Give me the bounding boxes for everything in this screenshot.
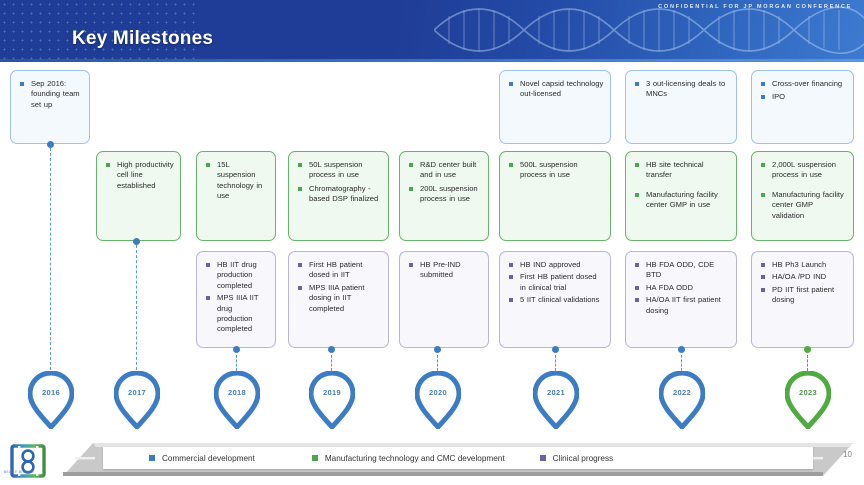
- card-manufacturing-2019[interactable]: 50L suspension process in use Chromatogr…: [288, 151, 389, 241]
- connector-2021: [555, 355, 557, 371]
- card-clinical-2021[interactable]: HB IND approved First HB patient dosed i…: [499, 251, 611, 348]
- timeline-pin-2018[interactable]: 2018: [214, 371, 260, 429]
- card-manufacturing-2023[interactable]: 2,000L suspension process in use Manufac…: [751, 151, 854, 241]
- bullet-item: Novel capsid technology out-licensed: [507, 79, 604, 100]
- map-pin-icon: [28, 371, 74, 429]
- bullet-item: HB Pre-IND submitted: [407, 260, 482, 281]
- pin-label: 2017: [114, 388, 160, 397]
- connector-dot-2019: [328, 346, 335, 353]
- slide-canvas: CONFIDENTIAL FOR JP MORGAN CONFERENCE Ke…: [0, 0, 864, 485]
- map-pin-icon: [415, 371, 461, 429]
- pin-label: 2021: [533, 388, 579, 397]
- connector-dot-2021: [552, 346, 559, 353]
- bullet-item: Sep 2016: founding team set up: [18, 79, 83, 110]
- bullet-item: IPO: [759, 92, 847, 102]
- bullet-item: MPS IIIA IIT drug production completed: [204, 293, 269, 335]
- page-number: 10: [843, 450, 852, 459]
- card-clinical-2018[interactable]: HB IIT drug production completed MPS III…: [196, 251, 276, 348]
- bullet-list: 2,000L suspension process in use Manufac…: [759, 160, 847, 221]
- legend-label: Manufacturing technology and CMC develop…: [325, 454, 505, 463]
- connector-2023: [807, 355, 809, 371]
- bullet-list: HB Ph3 Launch HA/OA /PD IND PD IIT first…: [759, 260, 847, 306]
- legend-label: Commercial development: [162, 454, 255, 463]
- bullet-item: Manufacturing facility center GMP valida…: [759, 190, 847, 221]
- card-manufacturing-2018[interactable]: 15L suspension technology in use: [196, 151, 276, 241]
- slide-header: CONFIDENTIAL FOR JP MORGAN CONFERENCE Ke…: [0, 0, 864, 59]
- connector-2018: [236, 355, 238, 371]
- map-pin-icon: [785, 371, 831, 429]
- bullet-list: 50L suspension process in use Chromatogr…: [296, 160, 382, 205]
- pin-label: 2016: [28, 388, 74, 397]
- bullet-item: HB FDA ODD, CDE BTD: [633, 260, 730, 281]
- card-commercial-2023[interactable]: Cross-over financing IPO: [751, 70, 854, 144]
- timeline-pin-2022[interactable]: 2022: [659, 371, 705, 429]
- bullet-item: First HB patient dosed in IIT: [296, 260, 382, 281]
- map-pin-icon: [114, 371, 160, 429]
- connector-2020: [437, 355, 439, 371]
- bullet-item: Cross-over financing: [759, 79, 847, 89]
- legend-swatch-icon: [312, 455, 318, 461]
- connector-2022: [681, 355, 683, 371]
- bullet-item: HA/OA IIT first patient dosing: [633, 295, 730, 316]
- bullet-list: HB IND approved First HB patient dosed i…: [507, 260, 604, 306]
- card-clinical-2023[interactable]: HB Ph3 Launch HA/OA /PD IND PD IIT first…: [751, 251, 854, 348]
- map-pin-icon: [659, 371, 705, 429]
- card-manufacturing-2021[interactable]: 500L suspension process in use: [499, 151, 611, 241]
- card-commercial-2021[interactable]: Novel capsid technology out-licensed: [499, 70, 611, 144]
- bullet-item: 2,000L suspension process in use: [759, 160, 847, 181]
- connector-2017: [136, 245, 138, 370]
- pin-label: 2018: [214, 388, 260, 397]
- card-manufacturing-2017[interactable]: High productivity cell line established: [96, 151, 181, 241]
- connector-dot-2022: [678, 346, 685, 353]
- belief-biomed-logo-icon: [10, 443, 48, 483]
- bullet-item: 3 out-licensing deals to MNCs: [633, 79, 730, 100]
- connector-2019: [331, 355, 333, 371]
- pin-label: 2023: [785, 388, 831, 397]
- timeline-pin-2017[interactable]: 2017: [114, 371, 160, 429]
- map-pin-icon: [533, 371, 579, 429]
- bullet-item: PD IIT first patient dosing: [759, 285, 847, 306]
- pin-label: 2019: [309, 388, 355, 397]
- header-underline: [0, 59, 864, 62]
- bullet-list: Novel capsid technology out-licensed: [507, 79, 604, 100]
- card-manufacturing-2022[interactable]: HB site technical transfer Manufacturing…: [625, 151, 737, 241]
- bullet-list: HB Pre-IND submitted: [407, 260, 482, 281]
- bullet-list: R&D center built and in use 200L suspens…: [407, 160, 482, 205]
- bullet-item: HB IIT drug production completed: [204, 260, 269, 291]
- card-clinical-2019[interactable]: First HB patient dosed in IIT MPS IIIA p…: [288, 251, 389, 348]
- bullet-list: 3 out-licensing deals to MNCs: [633, 79, 730, 100]
- bullet-item: HB IND approved: [507, 260, 604, 270]
- legend-swatch-icon: [149, 455, 155, 461]
- connector-dot-2018: [233, 346, 240, 353]
- bullet-item: MPS IIIA patient dosing in IIT completed: [296, 283, 382, 314]
- bullet-item: High productivity cell line established: [104, 160, 174, 191]
- bullet-item: HA FDA ODD: [633, 283, 730, 293]
- bullet-list: High productivity cell line established: [104, 160, 174, 191]
- timeline-pin-2020[interactable]: 2020: [415, 371, 461, 429]
- pin-label: 2020: [415, 388, 461, 397]
- bullet-item: 50L suspension process in use: [296, 160, 382, 181]
- bullet-item: Chromatography -based DSP finalized: [296, 184, 382, 205]
- bullet-list: HB site technical transfer Manufacturing…: [633, 160, 730, 211]
- bullet-list: 500L suspension process in use: [507, 160, 604, 181]
- confidential-notice: CONFIDENTIAL FOR JP MORGAN CONFERENCE: [658, 4, 852, 10]
- map-pin-icon: [309, 371, 355, 429]
- bullet-list: 15L suspension technology in use: [204, 160, 269, 202]
- connector-2016: [50, 148, 52, 370]
- legend-panel: Commercial development Manufacturing tec…: [103, 447, 813, 469]
- page-title: Key Milestones: [72, 28, 213, 50]
- bullet-item: 200L suspension process in use: [407, 184, 482, 205]
- bullet-item: HA/OA /PD IND: [759, 272, 847, 282]
- bullet-list: First HB patient dosed in IIT MPS IIIA p…: [296, 260, 382, 314]
- pin-label: 2022: [659, 388, 705, 397]
- connector-dot-2020: [434, 346, 441, 353]
- timeline-pin-2021[interactable]: 2021: [533, 371, 579, 429]
- bullet-list: HB IIT drug production completed MPS III…: [204, 260, 269, 335]
- legend-label: Clinical progress: [553, 454, 614, 463]
- bullet-item: HB site technical transfer: [633, 160, 730, 181]
- connector-dot-2023: [804, 346, 811, 353]
- bullet-item: HB Ph3 Launch: [759, 260, 847, 270]
- bullet-item: First HB patient dosed in clinical trial: [507, 272, 604, 293]
- card-commercial-2016[interactable]: Sep 2016: founding team set up: [10, 70, 90, 144]
- bullet-item: R&D center built and in use: [407, 160, 482, 181]
- legend-swatch-icon: [540, 455, 546, 461]
- card-clinical-2020[interactable]: HB Pre-IND submitted: [399, 251, 489, 348]
- bullet-item: 15L suspension technology in use: [204, 160, 269, 202]
- timeline-pin-2023[interactable]: 2023: [785, 371, 831, 429]
- bullet-list: HB FDA ODD, CDE BTD HA FDA ODD HA/OA IIT…: [633, 260, 730, 316]
- bullet-item: Manufacturing facility center GMP in use: [633, 190, 730, 211]
- legend-ribbon: Commercial development Manufacturing tec…: [63, 443, 853, 476]
- card-manufacturing-2020[interactable]: R&D center built and in use 200L suspens…: [399, 151, 489, 241]
- legend-item-commercial[interactable]: Commercial development: [149, 454, 255, 463]
- logo-caption: BELIEF BIOMED: [4, 470, 34, 474]
- bullet-list: Cross-over financing IPO: [759, 79, 847, 103]
- legend-item-clinical[interactable]: Clinical progress: [540, 454, 614, 463]
- bullet-item: 5 IIT clinical validations: [507, 295, 604, 305]
- bullet-item: 500L suspension process in use: [507, 160, 604, 181]
- connector-dot-2017: [133, 238, 140, 245]
- legend-item-manufacturing[interactable]: Manufacturing technology and CMC develop…: [312, 454, 505, 463]
- card-commercial-2022[interactable]: 3 out-licensing deals to MNCs: [625, 70, 737, 144]
- timeline-pin-2016[interactable]: 2016: [28, 371, 74, 429]
- timeline-pin-2019[interactable]: 2019: [309, 371, 355, 429]
- bullet-list: Sep 2016: founding team set up: [18, 79, 83, 110]
- card-clinical-2022[interactable]: HB FDA ODD, CDE BTD HA FDA ODD HA/OA IIT…: [625, 251, 737, 348]
- map-pin-icon: [214, 371, 260, 429]
- company-logo: [10, 443, 48, 483]
- connector-dot-2016: [47, 141, 54, 148]
